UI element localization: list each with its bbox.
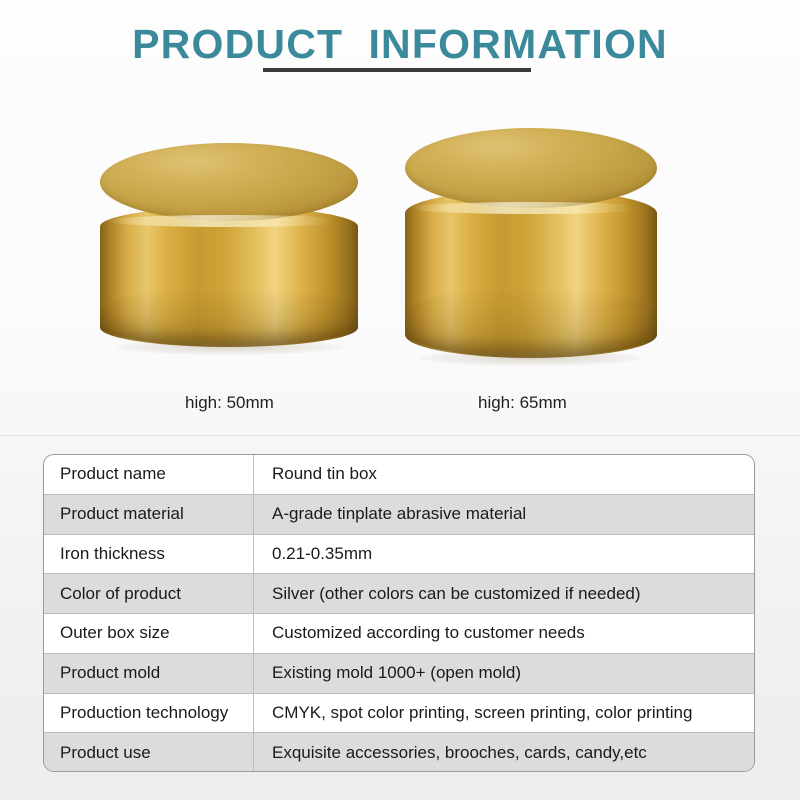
spec-value: Round tin box	[254, 455, 754, 494]
table-row: Product mold Existing mold 1000+ (open m…	[44, 654, 754, 694]
tin-body-shading	[405, 287, 657, 358]
spec-value: CMYK, spot color printing, screen printi…	[254, 694, 754, 733]
table-row: Iron thickness 0.21-0.35mm	[44, 535, 754, 575]
spec-label: Color of product	[44, 574, 254, 613]
table-row: Product use Exquisite accessories, brooc…	[44, 733, 754, 772]
spec-value: Exquisite accessories, brooches, cards, …	[254, 733, 754, 772]
table-row: Production technology CMYK, spot color p…	[44, 694, 754, 734]
large-tin-caption: high: 65mm	[478, 393, 567, 413]
large-round-tin-image	[405, 128, 657, 363]
small-tin-caption: high: 50mm	[185, 393, 274, 413]
table-row: Outer box size Customized according to c…	[44, 614, 754, 654]
tin-body-shading	[100, 288, 358, 347]
spec-label: Outer box size	[44, 614, 254, 653]
tin-lid-top	[100, 143, 358, 221]
page-title: PRODUCT INFORMATION	[0, 20, 800, 68]
spec-value: A-grade tinplate abrasive material	[254, 495, 754, 534]
tin-lid-top	[405, 128, 657, 208]
table-row: Product name Round tin box	[44, 455, 754, 495]
section-divider	[0, 435, 800, 436]
spec-value: Customized according to customer needs	[254, 614, 754, 653]
spec-label: Iron thickness	[44, 535, 254, 574]
title-underline	[263, 68, 531, 72]
spec-label: Product material	[44, 495, 254, 534]
page-header: PRODUCT INFORMATION	[0, 0, 800, 95]
spec-label: Product use	[44, 733, 254, 772]
product-information-page: PRODUCT INFORMATION high: 50mm high: 65m…	[0, 0, 800, 800]
table-row: Color of product Silver (other colors ca…	[44, 574, 754, 614]
small-round-tin-image	[100, 143, 358, 353]
product-showcase: high: 50mm high: 65mm	[0, 95, 800, 435]
spec-value: 0.21-0.35mm	[254, 535, 754, 574]
spec-label: Product mold	[44, 654, 254, 693]
spec-value: Silver (other colors can be customized i…	[254, 574, 754, 613]
table-row: Product material A-grade tinplate abrasi…	[44, 495, 754, 535]
spec-label: Product name	[44, 455, 254, 494]
spec-label: Production technology	[44, 694, 254, 733]
spec-value: Existing mold 1000+ (open mold)	[254, 654, 754, 693]
specification-table: Product name Round tin box Product mater…	[43, 454, 755, 772]
